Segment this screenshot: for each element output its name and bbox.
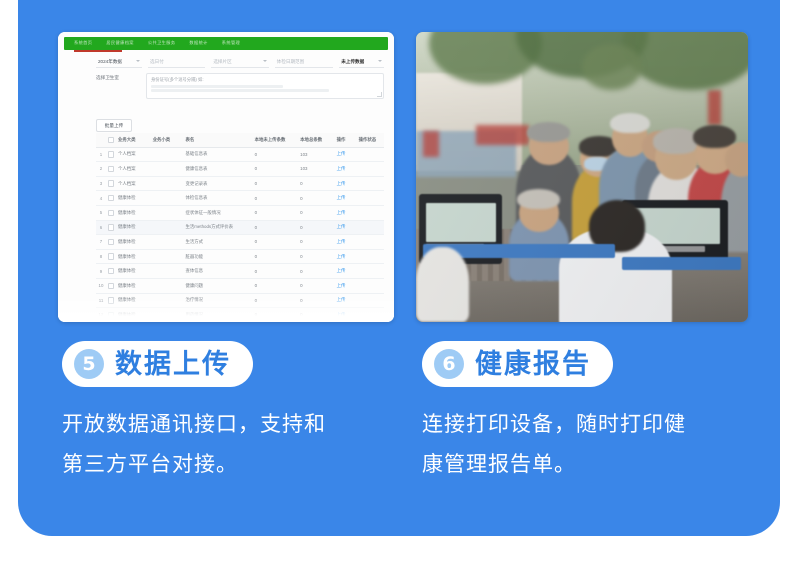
chevron-down-icon <box>136 60 140 62</box>
photo-grain-overlay <box>416 32 748 322</box>
cell-action: 上传 <box>335 283 357 289</box>
resize-handle-icon[interactable] <box>377 92 382 97</box>
table-row[interactable]: 4健康体检体检信息表00上传 <box>96 191 384 206</box>
cell-category: 个人档案 <box>116 151 151 157</box>
row-checkbox[interactable] <box>106 166 116 172</box>
checkbox-icon <box>108 180 114 186</box>
cell-category: 个人档案 <box>116 181 151 187</box>
cell-total: 0 <box>298 239 334 244</box>
nav-item-2[interactable]: 公共卫生服务 <box>148 40 176 46</box>
section-title: 数据上传 <box>115 351 231 378</box>
app-navbar: 系统首页 居民健康档案 公共卫生服务 数据统计 系统管理 <box>64 37 388 50</box>
date-select-value: 选日付 <box>150 59 164 65</box>
nav-item-1[interactable]: 居民健康档案 <box>106 40 134 46</box>
cell-unsent: 0 <box>253 225 299 230</box>
cell-total: 0 <box>298 225 334 230</box>
cell-tablename: 体检信息表 <box>183 195 252 201</box>
section-number-badge: 5 <box>74 349 104 379</box>
upload-link[interactable]: 上传 <box>337 239 346 244</box>
row-index: 6 <box>96 225 106 230</box>
cell-action: 上传 <box>335 224 357 230</box>
cell-tablename: 脏器功能 <box>183 254 252 260</box>
row-checkbox[interactable] <box>106 253 116 259</box>
section-body-5: 开放数据通讯接口，支持和 第三方平台对接。 <box>62 405 392 485</box>
section-pill-6: 6 健康报告 <box>422 341 613 387</box>
screenshot-bottom-fade <box>58 296 394 322</box>
checkbox-icon <box>108 224 114 230</box>
nav-active-underline <box>74 50 122 52</box>
table-row[interactable]: 5健康体检症状体征一般情况00上传 <box>96 206 384 221</box>
row-index: 1 <box>96 152 106 157</box>
poster-stage: 系统首页 居民健康档案 公共卫生服务 数据统计 系统管理 2024年数据 选日付 <box>0 0 800 580</box>
table-row[interactable]: 1个人档案基础信息表0103上传 <box>96 148 384 163</box>
cell-total: 103 <box>298 166 334 171</box>
cell-unsent: 0 <box>253 254 299 259</box>
section-title: 健康报告 <box>475 351 591 378</box>
col-total: 本地总条数 <box>298 137 334 143</box>
chevron-down-icon <box>378 60 382 62</box>
textarea-content-line <box>151 89 329 92</box>
cell-category: 个人档案 <box>116 166 151 172</box>
nav-item-0[interactable]: 系统首页 <box>74 40 92 46</box>
cell-tablename: 生活方式 <box>183 239 252 245</box>
row-checkbox[interactable] <box>106 180 116 186</box>
cell-unsent: 0 <box>253 239 299 244</box>
cell-tablename: 变更记录表 <box>183 181 252 187</box>
checkbox-icon <box>108 283 114 289</box>
table-row[interactable]: 10健康体检健康问题00上传 <box>96 279 384 294</box>
body-line: 连接打印设备，随时打印健 <box>422 405 752 445</box>
row-index: 9 <box>96 269 106 274</box>
cell-tablename: 健康问题 <box>183 283 252 289</box>
table-header-row: 业务大类 业务小类 表名 本地未上传条数 本地总条数 操作 操作状态 <box>96 133 384 148</box>
col-status: 操作状态 <box>357 137 384 143</box>
col-action: 操作 <box>335 137 357 143</box>
filter-row-primary: 2024年数据 选日付 选择片区 体检日期范围 未上传数据 <box>96 56 384 68</box>
cell-total: 0 <box>298 269 334 274</box>
table-row[interactable]: 8健康体检脏器功能00上传 <box>96 250 384 265</box>
cell-category: 健康体检 <box>116 224 151 230</box>
row-index: 8 <box>96 254 106 259</box>
checkbox-icon <box>108 166 114 172</box>
nav-item-4[interactable]: 系统管理 <box>222 40 240 46</box>
table-row[interactable]: 3个人档案变更记录表00上传 <box>96 177 384 192</box>
chevron-down-icon <box>263 60 267 62</box>
cell-unsent: 0 <box>253 210 299 215</box>
cell-total: 0 <box>298 210 334 215</box>
cell-tablename: 查体信息 <box>183 268 252 274</box>
row-checkbox[interactable] <box>106 268 116 274</box>
cell-action: 上传 <box>335 166 357 172</box>
upload-link[interactable]: 上传 <box>337 210 346 215</box>
cell-unsent: 0 <box>253 283 299 288</box>
date-select[interactable]: 选日付 <box>148 56 205 68</box>
col-unsent: 本地未上传条数 <box>253 137 299 143</box>
row-checkbox[interactable] <box>106 239 116 245</box>
cell-action: 上传 <box>335 239 357 245</box>
row-checkbox[interactable] <box>106 195 116 201</box>
col-tablename: 表名 <box>183 137 252 143</box>
row-checkbox[interactable] <box>106 283 116 289</box>
row-index: 5 <box>96 210 106 215</box>
cell-total: 0 <box>298 254 334 259</box>
filter-bar: 2024年数据 选日付 选择片区 体检日期范围 未上传数据 <box>96 56 384 99</box>
table-row[interactable]: 9健康体检查体信息00上传 <box>96 264 384 279</box>
body-line: 第三方平台对接。 <box>62 445 392 485</box>
cell-tablename: 健康信息表 <box>183 166 252 172</box>
upload-link[interactable]: 上传 <box>337 195 346 200</box>
photo-card-health-report <box>416 32 748 322</box>
nav-item-3[interactable]: 数据统计 <box>189 40 207 46</box>
cell-total: 0 <box>298 181 334 186</box>
upload-link[interactable]: 上传 <box>337 254 346 259</box>
cell-category: 健康体检 <box>116 268 151 274</box>
cell-category: 健康体检 <box>116 210 151 216</box>
screenshot-card-data-upload: 系统首页 居民健康档案 公共卫生服务 数据统计 系统管理 2024年数据 选日付 <box>58 32 394 322</box>
batch-upload-button[interactable]: 批量上传 <box>96 119 132 132</box>
id-number-placeholder: 身份证号(多个逗号分隔) 如: <box>151 77 379 83</box>
cell-action: 上传 <box>335 268 357 274</box>
select-all-checkbox[interactable] <box>106 137 116 143</box>
cell-unsent: 0 <box>253 196 299 201</box>
cell-category: 健康体检 <box>116 283 151 289</box>
section-body-6: 连接打印设备，随时打印健 康管理报告单。 <box>422 405 752 485</box>
cell-category: 健康体检 <box>116 195 151 201</box>
cell-tablename: 生活methods方式评价表 <box>183 224 252 230</box>
cell-total: 0 <box>298 283 334 288</box>
row-checkbox[interactable] <box>106 224 116 230</box>
checkbox-icon <box>108 268 114 274</box>
year-select[interactable]: 2024年数据 <box>96 56 142 68</box>
cell-unsent: 0 <box>253 269 299 274</box>
filter-row-secondary: 选择卫生室 身份证号(多个逗号分隔) 如: <box>96 73 384 99</box>
year-select-value: 2024年数据 <box>98 59 122 65</box>
cell-unsent: 0 <box>253 152 299 157</box>
cell-action: 上传 <box>335 254 357 260</box>
district-select-value: 选择片区 <box>213 59 231 65</box>
body-line: 康管理报告单。 <box>422 445 752 485</box>
body-line: 开放数据通讯接口，支持和 <box>62 405 392 445</box>
row-index: 10 <box>96 283 106 288</box>
cell-action: 上传 <box>335 210 357 216</box>
checkbox-icon <box>108 195 114 201</box>
upload-link[interactable]: 上传 <box>337 151 346 156</box>
status-select-value: 未上传数据 <box>341 59 364 65</box>
screenshot-surface: 系统首页 居民健康档案 公共卫生服务 数据统计 系统管理 2024年数据 选日付 <box>58 32 394 322</box>
textarea-content-line <box>151 85 283 88</box>
row-index: 4 <box>96 196 106 201</box>
row-checkbox[interactable] <box>106 151 116 157</box>
upload-link[interactable]: 上传 <box>337 166 346 171</box>
col-subcategory: 业务小类 <box>151 137 184 143</box>
app-navbar-menu: 系统首页 居民健康档案 公共卫生服务 数据统计 系统管理 <box>74 40 240 46</box>
col-category: 业务大类 <box>116 137 151 143</box>
upload-table: 业务大类 业务小类 表名 本地未上传条数 本地总条数 操作 操作状态 1个人档案… <box>96 133 384 322</box>
cell-category: 健康体检 <box>116 254 151 260</box>
cell-action: 上传 <box>335 151 357 157</box>
checkbox-icon <box>108 137 114 143</box>
upload-link[interactable]: 上传 <box>337 283 346 288</box>
checkbox-icon <box>108 151 114 157</box>
row-checkbox[interactable] <box>106 210 116 216</box>
checkbox-icon <box>108 253 114 259</box>
cell-unsent: 0 <box>253 181 299 186</box>
table-row[interactable]: 6健康体检生活methods方式评价表00上传 <box>96 221 384 236</box>
checkbox-icon <box>108 210 114 216</box>
district-select[interactable]: 选择片区 <box>211 56 268 68</box>
table-row[interactable]: 2个人档案健康信息表0103上传 <box>96 162 384 177</box>
upload-date-select[interactable]: 体检日期范围 <box>275 56 334 68</box>
id-number-textarea[interactable]: 身份证号(多个逗号分隔) 如: <box>146 73 384 99</box>
section-number-badge: 6 <box>434 349 464 379</box>
status-select[interactable]: 未上传数据 <box>339 56 384 68</box>
upload-date-select-value: 体检日期范围 <box>277 59 305 65</box>
cell-action: 上传 <box>335 195 357 201</box>
row-index: 3 <box>96 181 106 186</box>
cell-tablename: 症状体征一般情况 <box>183 210 252 216</box>
table-row[interactable]: 7健康体检生活方式00上传 <box>96 235 384 250</box>
cell-tablename: 基础信息表 <box>183 151 252 157</box>
cell-unsent: 0 <box>253 166 299 171</box>
checkbox-icon <box>108 239 114 245</box>
cell-category: 健康体检 <box>116 239 151 245</box>
row-index: 2 <box>96 166 106 171</box>
upload-link[interactable]: 上传 <box>337 268 346 273</box>
row-index: 7 <box>96 239 106 244</box>
section-pill-5: 5 数据上传 <box>62 341 253 387</box>
upload-link[interactable]: 上传 <box>337 181 346 186</box>
upload-link[interactable]: 上传 <box>337 224 346 229</box>
cell-total: 0 <box>298 196 334 201</box>
cell-total: 103 <box>298 152 334 157</box>
cell-action: 上传 <box>335 181 357 187</box>
org-select-label: 选择卫生室 <box>96 73 140 83</box>
